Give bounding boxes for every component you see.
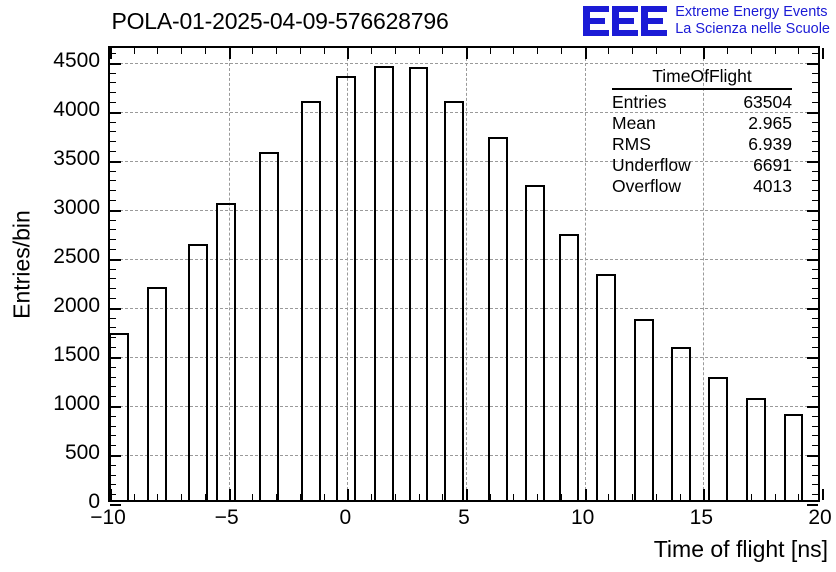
logo-letter-e-icon	[612, 6, 638, 36]
stats-divider	[612, 88, 792, 90]
histogram-bar	[488, 137, 508, 500]
histogram-bar	[746, 398, 766, 500]
stats-row: Entries63504	[612, 92, 792, 113]
x-tick-label: 15	[690, 506, 713, 530]
y-tick-label: 4000	[53, 98, 100, 122]
histogram-bar	[444, 101, 464, 500]
y-tick-label: 1000	[53, 392, 100, 416]
eee-logo-mark	[583, 6, 667, 36]
histogram-bar	[374, 66, 394, 500]
histogram-bar	[301, 101, 321, 500]
histogram-bar	[559, 234, 579, 500]
y-tick-label: 2000	[53, 294, 100, 318]
histogram-bar	[216, 203, 236, 500]
y-tick-label: 3500	[53, 147, 100, 171]
y-tick-label: 500	[65, 441, 100, 465]
stats-title: TimeOfFlight	[612, 66, 792, 88]
stats-key: Overflow	[612, 176, 687, 197]
x-tick-label: 20	[808, 506, 831, 530]
eee-logo: Extreme Energy Events La Scienza nelle S…	[583, 4, 830, 38]
y-tick-label: 1500	[53, 343, 100, 367]
eee-logo-line1: Extreme Energy Events	[675, 4, 830, 21]
stats-row: RMS6.939	[612, 134, 792, 155]
histogram-bar	[336, 76, 356, 500]
root-canvas: POLA-01-2025-04-09-576628796 Extreme Ene…	[0, 0, 836, 572]
stats-key: Entries	[612, 92, 672, 113]
x-tick-top	[822, 48, 824, 59]
stats-key: Mean	[612, 113, 662, 134]
stats-value: 6691	[753, 155, 792, 176]
stats-key: RMS	[612, 134, 657, 155]
y-axis-tick-labels: 050010001500200025003000350040004500	[0, 46, 100, 502]
stats-key: Underflow	[612, 155, 697, 176]
page-title: POLA-01-2025-04-09-576628796	[0, 8, 560, 35]
eee-logo-text: Extreme Energy Events La Scienza nelle S…	[675, 4, 830, 38]
x-tick-label: −5	[215, 506, 239, 530]
stats-value: 6.939	[748, 134, 792, 155]
histogram-bar	[634, 319, 654, 500]
histogram-bar	[596, 274, 616, 500]
stats-value: 2.965	[748, 113, 792, 134]
histogram-bar	[525, 185, 545, 500]
x-tick-label: 10	[571, 506, 594, 530]
logo-letter-e-icon	[583, 6, 609, 36]
stats-rows: Entries63504Mean2.965RMS6.939Underflow66…	[612, 92, 792, 197]
stats-value: 4013	[753, 176, 792, 197]
x-axis-tick-labels: −10−505101520	[108, 506, 820, 534]
eee-logo-line2: La Scienza nelle Scuole	[675, 21, 830, 38]
x-tick-label: 0	[339, 506, 351, 530]
x-axis-title: Time of flight [ns]	[654, 536, 828, 563]
x-tick-label: 5	[458, 506, 470, 530]
x-tick	[822, 489, 824, 500]
histogram-bar	[188, 244, 208, 500]
histogram-bar	[409, 67, 429, 500]
y-tick-label: 3000	[53, 196, 100, 220]
histogram-bar	[784, 414, 804, 500]
histogram-bar	[671, 347, 691, 500]
histogram-bar	[708, 377, 728, 500]
y-tick-label: 2500	[53, 245, 100, 269]
stats-row: Mean2.965	[612, 113, 792, 134]
histogram-bar	[109, 333, 129, 500]
stats-row: Underflow6691	[612, 155, 792, 176]
stats-value: 63504	[743, 92, 792, 113]
histogram-bar	[147, 287, 167, 500]
logo-letter-e-icon	[641, 6, 667, 36]
x-tick-label: −10	[90, 506, 126, 530]
histogram-bar	[259, 152, 279, 500]
stats-row: Overflow4013	[612, 176, 792, 197]
stats-box: TimeOfFlight Entries63504Mean2.965RMS6.9…	[612, 66, 792, 197]
y-tick-label: 4500	[53, 49, 100, 73]
